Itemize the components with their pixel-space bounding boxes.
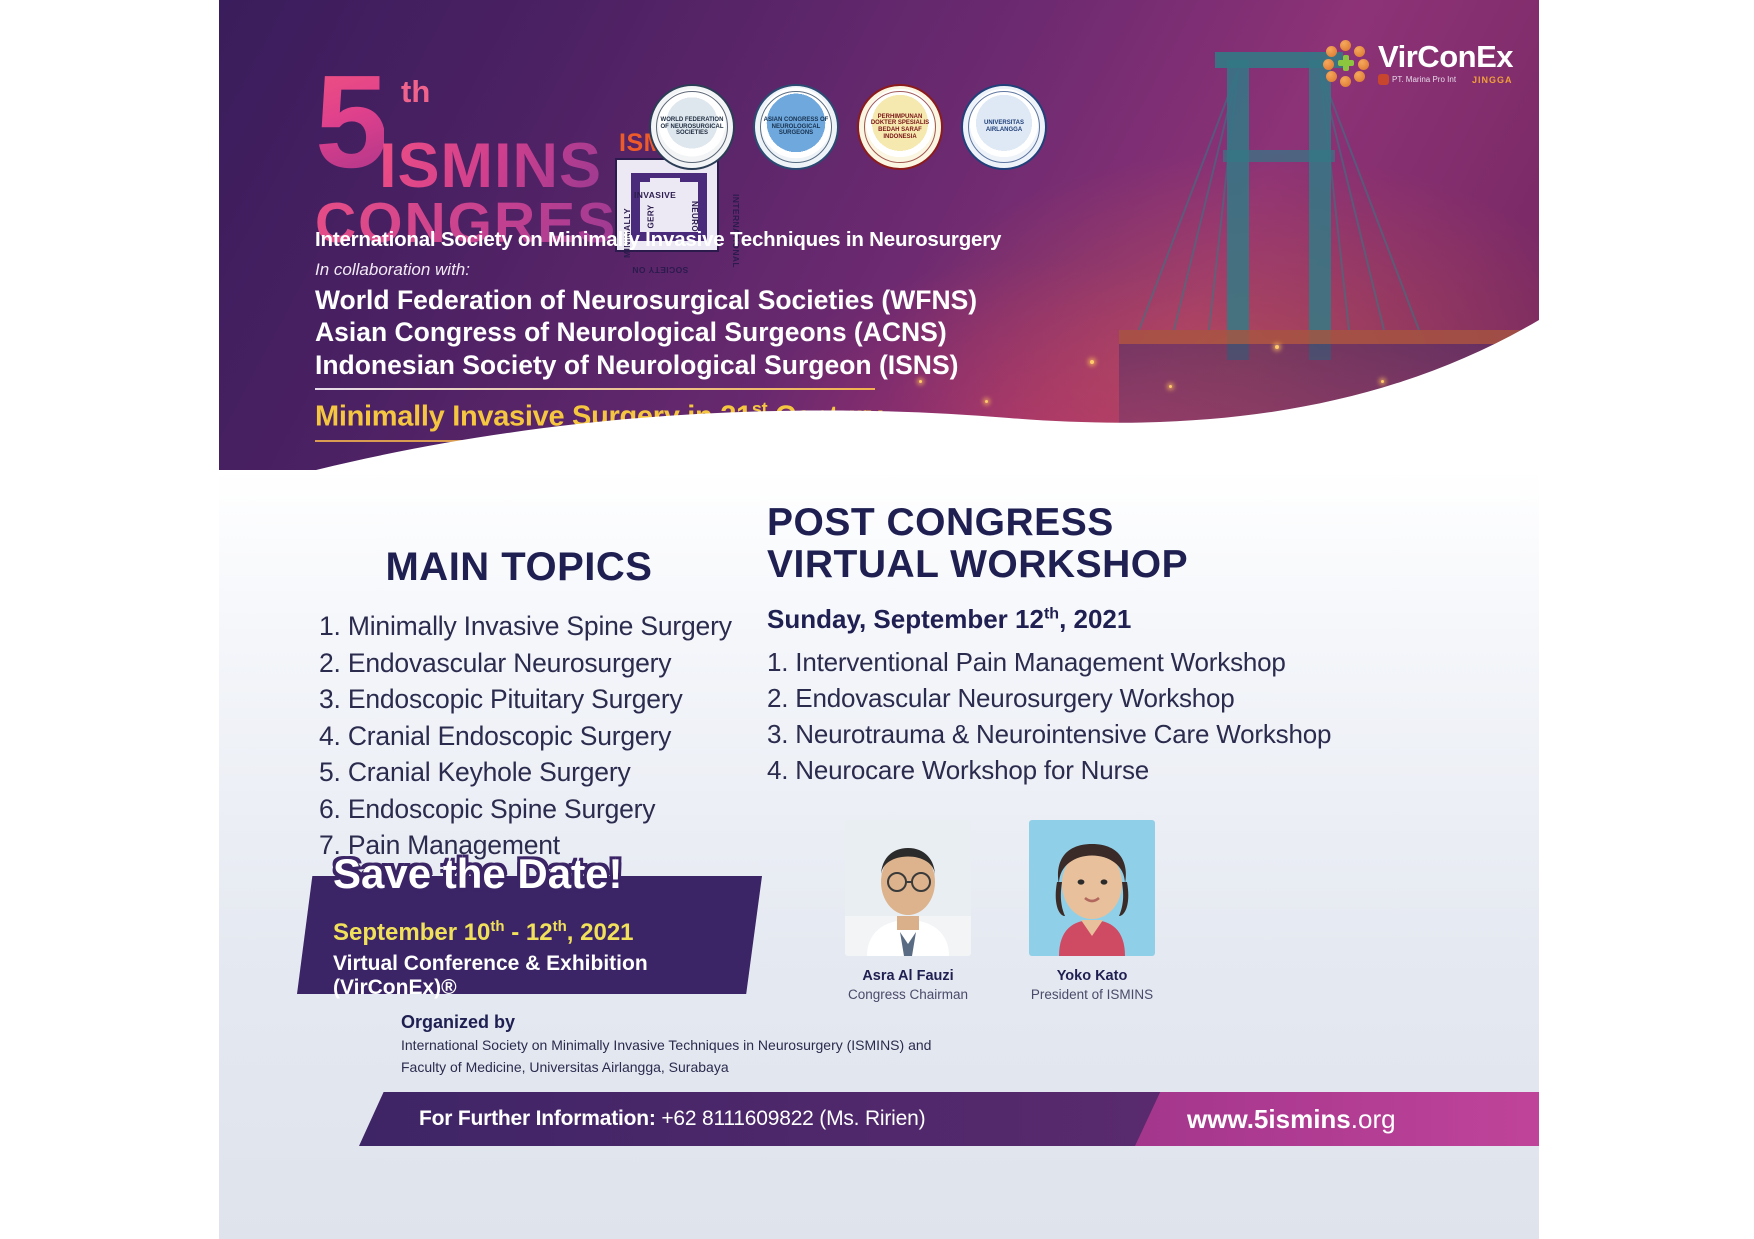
congress-logo-cluster: 5 th ISMINS CONGRESS ISMINS INVASIVE SOC… [315,62,530,222]
list-item: 3. Neurotrauma & Neurointensive Care Wor… [767,717,1347,753]
virconex-partner-logo: PT. Marina Pro Int [1378,74,1456,85]
list-item: 4. Neurocare Workshop for Nurse [767,753,1347,789]
speaker-role: President of ISMINS [1029,987,1155,1002]
hero-banner: 5 th ISMINS CONGRESS ISMINS INVASIVE SOC… [219,0,1539,500]
left-margin [0,0,219,1239]
list-item: 2. Endovascular Neurosurgery [319,645,789,682]
contact-bar: For Further Information: +62 8111609822 … [359,1092,1179,1146]
save-the-date-content: Save the Date! September 10th - 12th, 20… [297,876,762,994]
virconex-logo: VirConEx PT. Marina Pro Int JINGGA [1323,40,1513,86]
main-topics-list: 1. Minimally Invasive Spine Surgery 2. E… [319,608,789,864]
avatar [1029,820,1155,956]
marinapro-mark [1378,74,1389,85]
speaker-card: Asra Al Fauzi Congress Chairman [845,820,971,1002]
website-bar[interactable]: www.5ismins.org [1135,1092,1539,1146]
list-item: 3. Endoscopic Pituitary Surgery [319,681,789,718]
post-congress-section: POST CONGRESS VIRTUAL WORKSHOP Sunday, S… [767,502,1347,789]
hero-divider [315,388,875,390]
list-item: 1. Minimally Invasive Spine Surgery [319,608,789,645]
organizer-block: Organized by International Society on Mi… [401,1012,931,1078]
save-the-date-subtitle: Virtual Conference & Exhibition (VirConE… [333,952,762,1000]
congress-tagline: Minimally Invasive Surgery in 21st Centu… [315,399,1001,434]
hero-text-block: International Society on Minimally Invas… [315,228,1001,442]
organizer-heading: Organized by [401,1012,931,1033]
society-line: International Society on Minimally Invas… [315,228,1001,252]
speaker-card: Yoko Kato President of ISMINS [1029,820,1155,1002]
edition-suffix: th [401,74,430,110]
edition-number: 5 [315,56,384,188]
main-topics-section: MAIN TOPICS 1. Minimally Invasive Spine … [319,545,789,864]
virconex-flower-icon [1323,40,1369,86]
jingga-partner-logo: JINGGA [1472,75,1513,85]
speaker-name: Asra Al Fauzi [845,968,971,984]
organizer-line-2: Faculty of Medicine, Universitas Airlang… [401,1057,931,1077]
avatar [845,820,971,956]
hero-divider-2 [315,440,830,442]
list-item: 5. Cranial Keyhole Surgery [319,754,789,791]
isns-seal: PERHIMPUNAN DOKTER SPESIALIS BEDAH SARAF… [857,84,943,170]
conference-poster: 5 th ISMINS CONGRESS ISMINS INVASIVE SOC… [219,0,1539,1239]
list-item: 4. Cranial Endoscopic Surgery [319,718,789,755]
unair-seal: UNIVERSITAS AIRLANGGA [961,84,1047,170]
main-topics-title: MAIN TOPICS [319,545,719,590]
speaker-role: Congress Chairman [845,987,971,1002]
list-item: 2. Endovascular Neurosurgery Workshop [767,681,1347,717]
ismins-word-top: INVASIVE [634,190,676,200]
wfns-seal: WORLD FEDERATION OF NEUROSURGICAL SOCIET… [649,84,735,170]
right-margin [1535,0,1754,1239]
post-congress-date: Sunday, September 12th, 2021 [767,604,1347,635]
organizer-line-1: International Society on Minimally Invas… [401,1035,931,1055]
society-seals: WORLD FEDERATION OF NEUROSURGICAL SOCIET… [649,84,1047,170]
post-congress-title-line2: VIRTUAL WORKSHOP [767,544,1347,586]
collaborator-3: Indonesian Society of Neurological Surge… [315,349,1001,381]
collaborator-2: Asian Congress of Neurological Surgeons … [315,316,1001,348]
collaborator-1: World Federation of Neurosurgical Societ… [315,284,1001,316]
virconex-wordmark: VirConEx [1378,41,1513,72]
ismins-word-inner-left: GERY [646,205,655,229]
website-text: www.5ismins.org [1187,1104,1396,1135]
poster-canvas: 5 th ISMINS CONGRESS ISMINS INVASIVE SOC… [0,0,1754,1239]
contact-text: For Further Information: +62 8111609822 … [419,1107,925,1131]
acns-seal: ASIAN CONGRESS OF NEUROLOGICAL SURGEONS [753,84,839,170]
save-the-date-title: Save the Date! [333,850,622,898]
congress-wordmark: 5 th ISMINS CONGRESS [315,62,530,222]
collaboration-label: In collaboration with: [315,260,1001,280]
post-congress-list: 1. Interventional Pain Management Worksh… [767,645,1347,789]
post-congress-title-line1: POST CONGRESS [767,502,1347,544]
speaker-name: Yoko Kato [1029,968,1155,984]
list-item: 1. Interventional Pain Management Worksh… [767,645,1347,681]
save-the-date-dates: September 10th - 12th, 2021 [333,918,634,947]
speakers-row: Asra Al Fauzi Congress Chairman [845,820,1155,1002]
list-item: 6. Endoscopic Spine Surgery [319,791,789,828]
